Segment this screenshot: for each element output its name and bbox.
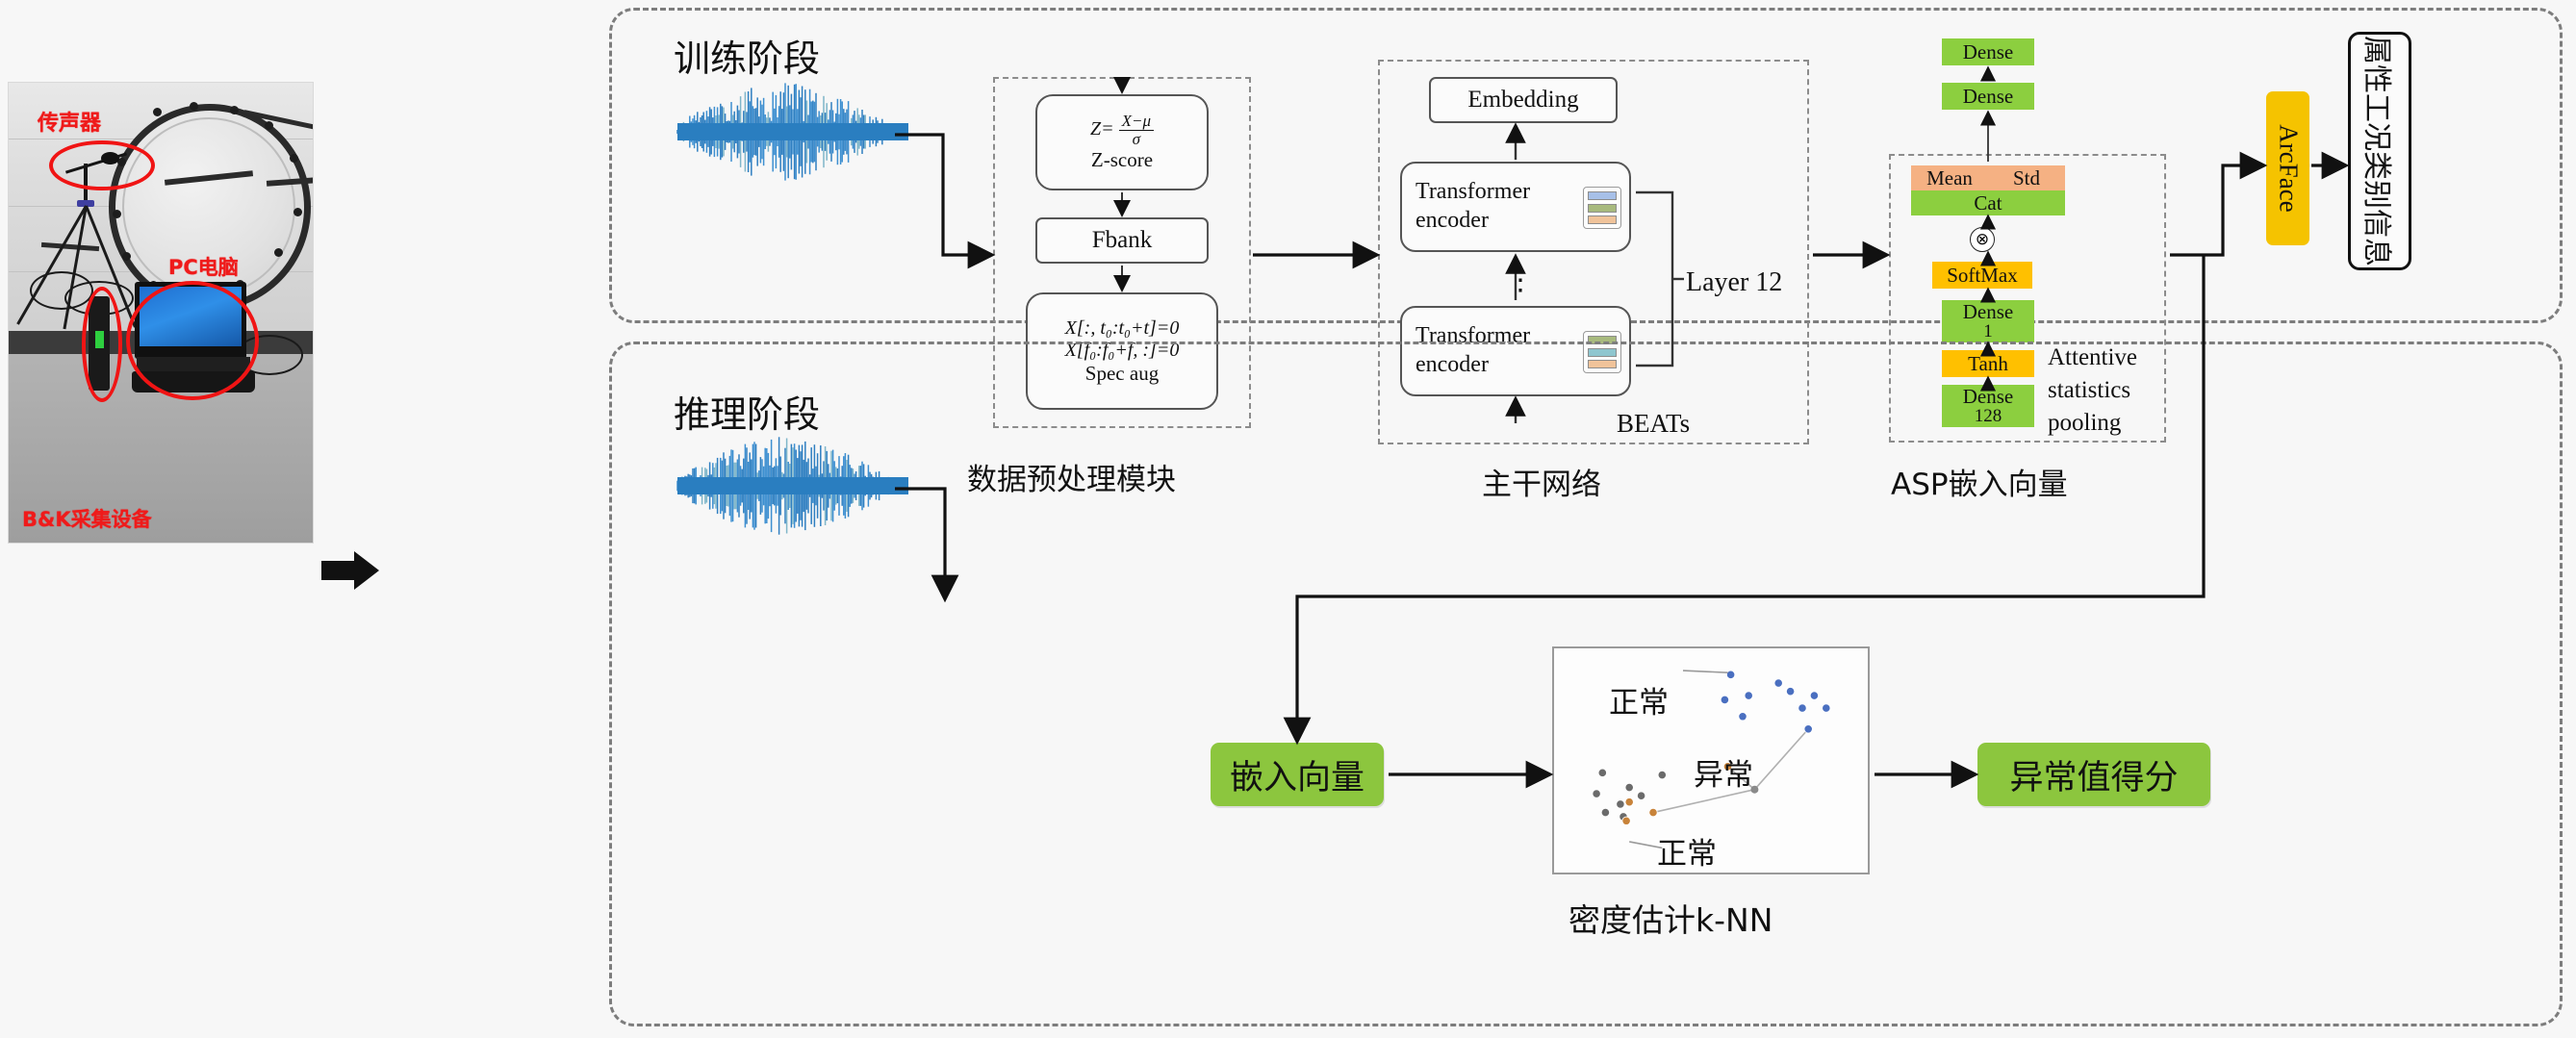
encoder-stack-ellipsis: ⋮ [1506, 264, 1535, 297]
asp-dense-second: Dense [1942, 83, 2034, 110]
encoder-top-line1: Transformer [1416, 177, 1530, 206]
scatter-label-abnormal: 异常 [1694, 750, 1753, 794]
asp-dense-1-label: Dense [1963, 302, 2013, 322]
embedding-block: Embedding [1429, 77, 1618, 123]
asp-std: Std [1988, 168, 2065, 189]
asp-dense-1-units: 1 [1983, 322, 1993, 341]
scatter-label-normal-bottom: 正常 [1657, 829, 1717, 873]
photo-label-pc: PC电脑 [168, 252, 239, 281]
inference-stage-title: 推理阶段 [674, 385, 820, 438]
transformer-mini-icon [1583, 187, 1621, 229]
photo-label-microphone: 传声器 [38, 106, 101, 137]
output-class-info-label: 属性工况类别信息 [2359, 36, 2401, 266]
annotation-ellipse-daq [82, 287, 122, 402]
transformer-encoder-top: Transformer encoder [1400, 162, 1631, 252]
photo-label-bk-daq: B&K采集设备 [22, 504, 152, 533]
training-stage-title: 训练阶段 [674, 29, 820, 82]
zscore-denominator: σ [1119, 131, 1154, 148]
specaug-line1: X[:, t₀:t₀+t]=0 [1065, 317, 1180, 340]
embedding-label: Embedding [1467, 87, 1578, 114]
fbank-block: Fbank [1035, 217, 1209, 264]
asp-dense-1: Dense 1 [1942, 300, 2034, 342]
zscore-caption: Z-score [1091, 148, 1153, 172]
asp-multiply-icon: ⊗ [1970, 227, 1995, 252]
annotation-ellipse-pc [126, 281, 259, 400]
zscore-block: Z= X−μ σ Z-score [1035, 94, 1209, 190]
experiment-photo: 传声器 PC电脑 B&K采集设备 [8, 82, 314, 544]
asp-cat: Cat [1911, 190, 2065, 215]
asp-mean: Mean [1911, 168, 1988, 189]
zscore-numerator: X−μ [1119, 113, 1154, 131]
scatter-label-normal-top: 正常 [1609, 678, 1669, 722]
photo-to-pipeline-arrow [321, 551, 381, 590]
embedding-vector-box: 嵌入向量 [1211, 743, 1384, 806]
anomaly-score-box: 异常值得分 [1977, 743, 2210, 806]
encoder-top-line2: encoder [1416, 206, 1530, 235]
knn-plot-label: 密度估计k-NN [1569, 895, 1773, 941]
fbank-caption: Fbank [1092, 227, 1153, 254]
asp-mean-std-row: Mean Std [1911, 165, 2065, 190]
annotation-ellipse-microphone [49, 140, 155, 190]
arcface-label: ArcFace [2273, 124, 2303, 212]
zscore-formula-lhs: Z= [1090, 118, 1114, 139]
layer-bracket-label: Layer 12 [1686, 267, 1782, 298]
output-class-info-box: 属性工况类别信息 [2348, 32, 2411, 270]
arcface-block: ArcFace [2266, 91, 2309, 245]
asp-dense-top: Dense [1942, 38, 2034, 65]
asp-softmax: SoftMax [1932, 262, 2032, 289]
